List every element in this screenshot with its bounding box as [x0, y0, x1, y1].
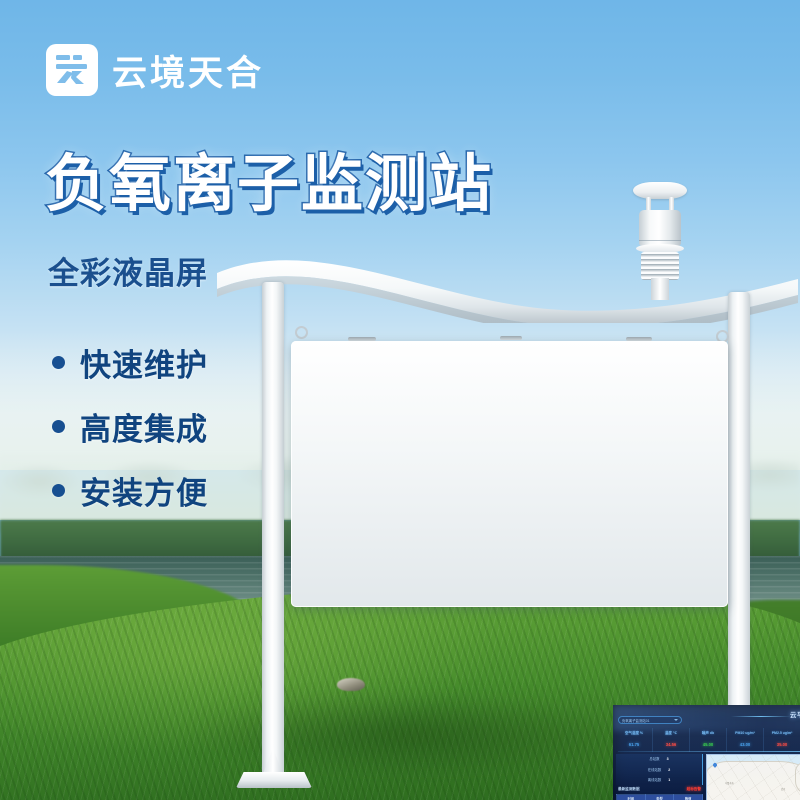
metric-card: PM2.5 ug/m³35.00: [764, 728, 800, 752]
table-column-header: 类型: [645, 795, 674, 800]
metric-card: 温度 ℃34.56: [653, 728, 690, 752]
geo-map[interactable]: 中华人民共和国 北京 上海 广州 成都 西安 乌鲁木齐 拉萨 昆明 哈尔滨 沈阳: [706, 754, 800, 800]
map-city-label: 乌鲁木齐: [725, 781, 734, 785]
metric-value: 45.00: [690, 739, 726, 750]
metric-value: 61.75: [616, 739, 652, 750]
metric-card: PM10 ug/m³43.00: [727, 728, 764, 752]
bullet-dot-icon: [52, 420, 65, 433]
metric-label: 温度 ℃: [653, 728, 689, 739]
stat-row: 总站数3: [616, 754, 702, 765]
brand-name: 云境天合: [112, 45, 264, 96]
metric-label: 噪声 db: [690, 728, 726, 739]
stat-value: 3: [667, 755, 669, 765]
cabinet-hanger-left: [295, 326, 308, 339]
curved-canopy: [215, 243, 800, 323]
bullet-dot-icon: [52, 356, 65, 369]
table-column-header: 时间: [617, 795, 646, 800]
brand-lockup: 云境天合: [46, 44, 264, 96]
stat-label: 在线站数: [648, 766, 662, 776]
site-selector[interactable]: 负氧离子监测站01: [618, 716, 682, 724]
feature-item: 快速维护: [52, 340, 208, 385]
display-cabinet: 云平台 负氧离子监测站01 数据中心 管理 设备 站点 账号: [291, 341, 728, 607]
feature-item: 安装方便: [52, 468, 208, 513]
radiation-shield-fins: [641, 252, 679, 280]
support-post-left: [262, 282, 284, 776]
feature-list: 快速维护高度集成安装方便: [52, 340, 208, 532]
metric-value: 35.00: [764, 739, 800, 750]
site-selector-value: 负氧离子监测站01: [622, 719, 650, 723]
table-column-header: 数值: [674, 795, 703, 800]
metric-card: 噪声 db45.00: [690, 728, 727, 752]
metric-label: PM2.5 ug/m³: [764, 728, 800, 739]
post-base-left: [236, 772, 312, 788]
metric-card: 空气湿度 %61.75: [616, 728, 653, 752]
table-header-row: 时间类型数值: [617, 795, 703, 800]
subtitle: 全彩液晶屏: [48, 248, 208, 293]
stat-row: 离线站数1: [616, 775, 702, 786]
metric-label: 空气湿度 %: [616, 728, 652, 739]
feature-label: 快速维护: [80, 340, 208, 385]
station-stats-box: 总站数3在线站数2离线站数1: [616, 754, 703, 785]
metric-bar: 空气湿度 %61.75温度 ℃34.56噪声 db45.00PM10 ug/m³…: [616, 728, 800, 752]
stat-label: 离线站数: [648, 776, 662, 786]
sensor-body: [639, 210, 681, 246]
stat-row: 在线站数2: [616, 765, 702, 776]
map-canvas: 中华人民共和国 北京 上海 广州 成都 西安 乌鲁木齐 拉萨 昆明 哈尔滨 沈阳: [707, 755, 800, 800]
bullet-dot-icon: [52, 484, 65, 497]
dashboard-middle-row: 总站数3在线站数2离线站数1 最新监测数据 超标告警 时间类型数值 2021-0…: [616, 754, 800, 800]
stat-label: 总站数: [649, 755, 659, 765]
feature-item: 高度集成: [52, 404, 208, 449]
lcd-dashboard-screen[interactable]: 云平台 负氧离子监测站01 数据中心 管理 设备 站点 账号: [613, 705, 800, 800]
sensor-mast: [651, 278, 669, 300]
brand-logo-icon: [46, 44, 98, 96]
page-title: 负氧离子监测站: [45, 133, 493, 223]
logo-glyph: [54, 53, 90, 87]
metric-value: 43.00: [727, 739, 763, 750]
metric-value: 34.56: [653, 739, 689, 750]
stat-value: 1: [668, 776, 670, 786]
feature-label: 安装方便: [80, 468, 208, 513]
stat-value: 2: [668, 766, 670, 776]
map-province-borders: [707, 755, 800, 800]
latest-data-table[interactable]: 时间类型数值 2021-08-27 07:30:07负氧离子1281/cm³20…: [616, 794, 703, 800]
ultrasonic-weather-sensor: [630, 182, 690, 294]
feature-label: 高度集成: [80, 404, 208, 449]
map-city-label: 北京: [781, 787, 785, 791]
cabinet-vent: [500, 336, 522, 340]
data-panel-header: 最新监测数据 超标告警: [616, 787, 703, 792]
left-panel: 总站数3在线站数2离线站数1 最新监测数据 超标告警 时间类型数值 2021-0…: [616, 754, 703, 800]
chevron-down-icon: [674, 719, 678, 721]
data-panel-title: 最新监测数据: [618, 787, 640, 792]
support-post-right: [728, 292, 750, 776]
metric-label: PM10 ug/m³: [727, 728, 763, 739]
sensor-cap: [633, 182, 687, 199]
alarm-badge: 超标告警: [687, 787, 701, 792]
